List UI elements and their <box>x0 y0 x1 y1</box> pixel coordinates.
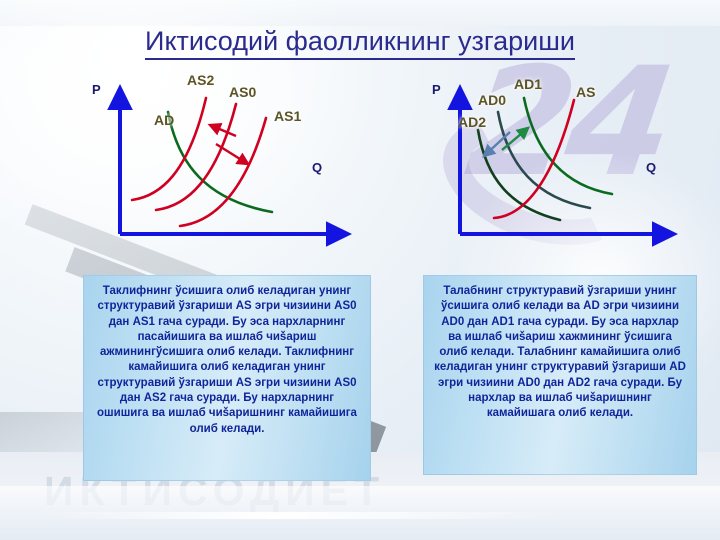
curve-label-AS: AS <box>576 84 595 100</box>
curve-AD0 <box>498 112 590 208</box>
curve-label-AS2: AS2 <box>187 72 214 88</box>
curve-label-AD2: AD2 <box>458 114 486 130</box>
arrow-AS0-to-AS1-path <box>216 144 248 164</box>
curve-AD2 <box>478 130 560 220</box>
y-axis-label: P <box>432 82 441 97</box>
supply-shift-chart: P Q AD AS2 AS0 AS1 <box>96 78 376 258</box>
curve-AD1 <box>524 98 612 194</box>
supply-shift-chart-svg <box>96 78 376 258</box>
curve-label-AD0: AD0 <box>478 92 506 108</box>
x-axis-label: Q <box>312 160 322 175</box>
curve-label-AS0: AS0 <box>229 84 256 100</box>
curve-label-AD1: AD1 <box>514 76 542 92</box>
explanation-textbox-demand: Талабнинг структуравий ўзгариши унинг ўс… <box>423 275 697 475</box>
curve-label-AS1: AS1 <box>274 108 301 124</box>
background-light-streak <box>40 512 560 519</box>
y-axis-label: P <box>92 82 101 97</box>
page-title-text: Иктисодий фаолликнинг узгариши <box>145 26 575 60</box>
page-title: Иктисодий фаолликнинг узгариши <box>60 26 660 57</box>
x-axis-label: Q <box>646 160 656 175</box>
explanation-textbox-supply: Таклифнинг ўсишига олиб келадиган унинг … <box>83 275 371 481</box>
demand-shift-chart: P Q AD2 AD0 AD1 AS <box>436 78 716 258</box>
curve-label-AD: AD <box>154 112 174 128</box>
arrow-AS0-to-AS2-path <box>210 125 236 136</box>
